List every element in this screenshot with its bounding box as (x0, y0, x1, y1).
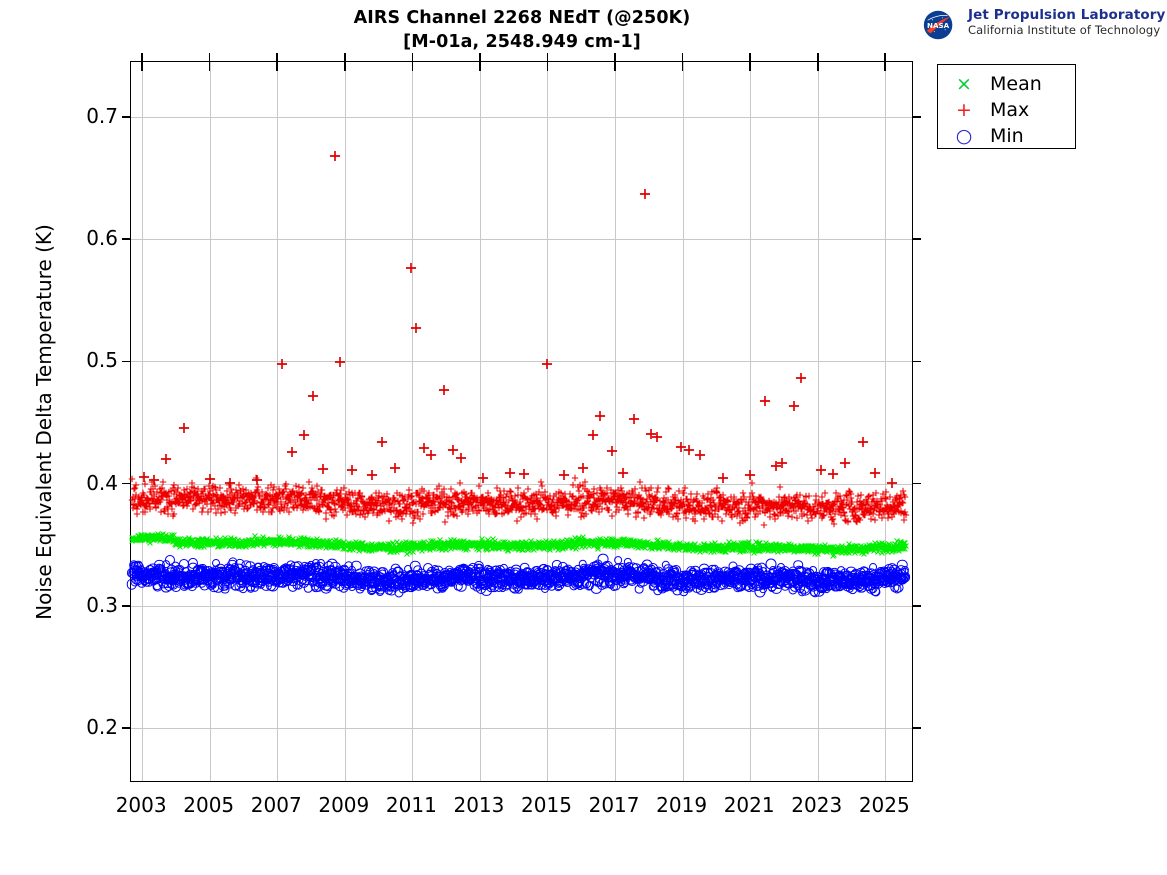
legend-item-max: + Max (938, 97, 1075, 123)
page-title: AIRS Channel 2268 NEdT (@250K) [M-01a, 2… (130, 6, 914, 54)
chart-legend: × Mean + Max ○ Min (937, 64, 1076, 149)
title-line-2: [M-01a, 2548.949 cm-1] (130, 30, 914, 54)
legend-label-max: Max (990, 100, 1029, 121)
logo-text-block: Jet Propulsion Laboratory California Ins… (968, 7, 1165, 37)
legend-label-mean: Mean (990, 74, 1042, 95)
legend-item-min: ○ Min (938, 123, 1075, 149)
legend-marker-mean-icon: × (938, 75, 990, 94)
chart-page: AIRS Channel 2268 NEdT (@250K) [M-01a, 2… (0, 0, 1167, 875)
plot-area (130, 61, 913, 782)
logo-subtitle: California Institute of Technology (968, 23, 1165, 37)
title-line-1: AIRS Channel 2268 NEdT (@250K) (130, 6, 914, 30)
nasa-jpl-logo: NASA Jet Propulsion Laboratory Californi… (916, 6, 1161, 46)
y-axis-title: Noise Equivalent Delta Temperature (K) (32, 224, 56, 620)
legend-marker-max-icon: + (938, 101, 990, 120)
legend-label-min: Min (990, 126, 1024, 147)
nasa-meatball-icon: NASA (916, 6, 964, 44)
legend-item-mean: × Mean (938, 71, 1075, 97)
legend-marker-min-icon: ○ (938, 127, 990, 146)
logo-title: Jet Propulsion Laboratory (968, 7, 1165, 23)
